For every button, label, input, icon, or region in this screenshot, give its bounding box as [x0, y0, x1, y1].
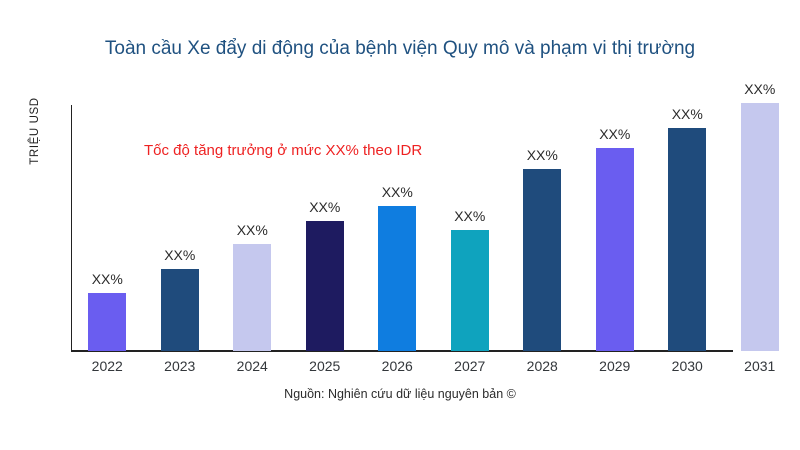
bar-value-label: XX% [309, 199, 340, 215]
bar[interactable] [88, 293, 126, 351]
x-tick-label: 2028 [506, 358, 579, 374]
x-tick-label: 2031 [724, 358, 797, 374]
bar[interactable] [161, 269, 199, 351]
plot-area: XX%XX%XX%XX%XX%XX%XX%XX%XX%XX% [71, 95, 800, 351]
y-axis-label: TRIỆU USD [29, 71, 41, 191]
bar[interactable] [741, 103, 779, 351]
bar-group: XX% [579, 95, 652, 351]
bar-value-label: XX% [454, 208, 485, 224]
bar[interactable] [451, 230, 489, 351]
bar-group: XX% [361, 95, 434, 351]
bar[interactable] [306, 221, 344, 351]
bar-group: XX% [289, 95, 362, 351]
bar-value-label: XX% [164, 247, 195, 263]
bar-group: XX% [71, 95, 144, 351]
bar-value-label: XX% [672, 106, 703, 122]
x-tick-label: 2022 [71, 358, 144, 374]
x-tick-label: 2030 [651, 358, 724, 374]
x-tick-label: 2025 [289, 358, 362, 374]
bar[interactable] [233, 244, 271, 351]
chart-title: Toàn cầu Xe đẩy di động của bệnh viện Qu… [0, 38, 800, 60]
bar-value-label: XX% [599, 126, 630, 142]
bar-group: XX% [724, 95, 797, 351]
bar[interactable] [668, 128, 706, 351]
bar-group: XX% [434, 95, 507, 351]
x-tick-label: 2024 [216, 358, 289, 374]
bar[interactable] [596, 148, 634, 351]
chart-container: Toàn cầu Xe đẩy di động của bệnh viện Qu… [0, 0, 800, 450]
bar-value-label: XX% [744, 81, 775, 97]
bar-group: XX% [216, 95, 289, 351]
bar-value-label: XX% [92, 271, 123, 287]
x-tick-label: 2029 [579, 358, 652, 374]
bar-value-label: XX% [237, 222, 268, 238]
x-tick-label: 2023 [144, 358, 217, 374]
bar-group: XX% [144, 95, 217, 351]
bar[interactable] [523, 169, 561, 351]
source-note: Nguồn: Nghiên cứu dữ liệu nguyên bản © [0, 387, 800, 401]
x-tick-label: 2027 [434, 358, 507, 374]
x-tick-label: 2026 [361, 358, 434, 374]
bar[interactable] [378, 206, 416, 351]
bar-value-label: XX% [527, 147, 558, 163]
bar-group: XX% [506, 95, 579, 351]
bar-value-label: XX% [382, 184, 413, 200]
bar-group: XX% [651, 95, 724, 351]
